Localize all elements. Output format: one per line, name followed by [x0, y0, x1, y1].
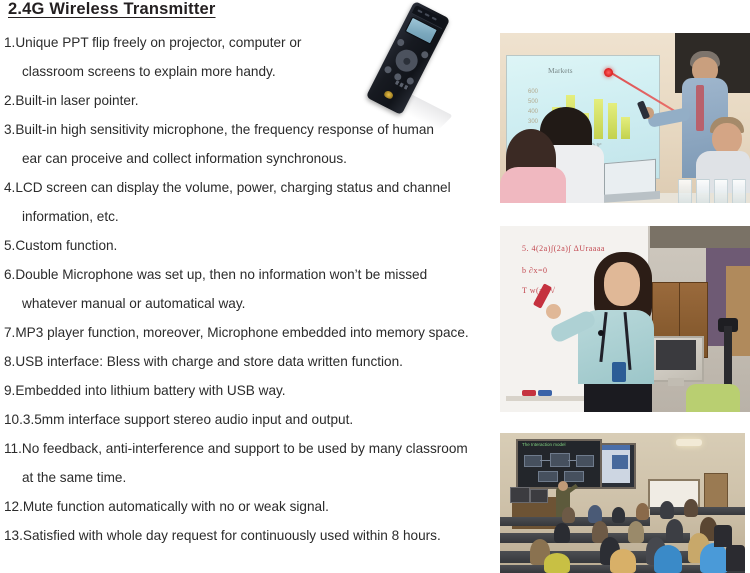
red-marker: [522, 390, 536, 396]
slide-diagram-box: [524, 455, 542, 467]
student: [636, 503, 649, 520]
blue-marker: [538, 390, 552, 396]
list-item-line: 5.Custom function.: [0, 231, 500, 260]
student: [628, 521, 644, 543]
student: [544, 553, 570, 573]
slide-connector: [540, 460, 550, 461]
student: [660, 501, 674, 519]
list-item: 6.Double Microphone was set up, then no …: [0, 260, 500, 318]
list-item: 13.Satisfied with whole day request for …: [0, 521, 500, 550]
list-item-line: 10.3.5mm interface support stereo audio …: [0, 405, 500, 434]
photo-business-presentation: Markets 600 500 400 300 laserstarker: [500, 33, 750, 203]
photo-classroom-teacher: 5. 4(2a)∫(2a)∫ ΔUraaaa b ∂x=0 T w(aa)√: [500, 226, 750, 412]
podium-monitor: [530, 489, 548, 503]
student-desk-row: [500, 517, 650, 526]
screen-window-titlebar: [602, 445, 630, 450]
list-item-line: 7.MP3 player function, moreover, Microph…: [0, 318, 500, 347]
chart-bar: [594, 99, 603, 139]
slide-diagram-box: [538, 471, 558, 482]
ceiling: [648, 226, 750, 248]
green-chair: [686, 384, 740, 412]
list-item: 4.LCD screen can display the volume, pow…: [0, 173, 500, 231]
student: [562, 507, 575, 523]
list-item-line: 11.No feedback, anti-interference and su…: [0, 434, 500, 463]
student: [612, 507, 625, 523]
slide-title: The Interaction model: [522, 442, 580, 449]
student: [700, 543, 728, 573]
laser-emitter-icon: [383, 90, 394, 100]
screen-window-panel: [612, 455, 628, 469]
audience-body: [500, 167, 566, 203]
clip-microphone-icon: [598, 330, 604, 336]
device-button: [406, 76, 415, 85]
teacher-face: [604, 262, 640, 306]
projected-chart-title: Markets: [548, 66, 608, 75]
list-item-line: 9.Embedded into lithium battery with USB…: [0, 376, 500, 405]
list-item-line: information, etc.: [0, 202, 500, 231]
page-title: 2.4G Wireless Transmitter: [8, 0, 216, 19]
slide-diagram-box: [576, 455, 594, 467]
water-glass: [714, 179, 728, 203]
list-item-line: 6.Double Microphone was set up, then no …: [0, 260, 500, 289]
list-item: 7.MP3 player function, moreover, Microph…: [0, 318, 500, 347]
student: [554, 523, 570, 543]
podium-monitor: [510, 487, 530, 503]
chart-axis-label: 400: [528, 109, 544, 116]
device-button: [396, 38, 405, 47]
tripod-stand: [724, 326, 732, 386]
list-item-line: ear can proceive and collect information…: [0, 144, 500, 173]
list-item-line: 13.Satisfied with whole day request for …: [0, 521, 500, 550]
list-item-line: whatever manual or automatical way.: [0, 289, 500, 318]
product-image-wireless-presenter: [358, 2, 488, 122]
list-item: 5.Custom function.: [0, 231, 500, 260]
list-item-line: 8.USB interface: Bless with charge and s…: [0, 347, 500, 376]
lecture-chair: [714, 525, 732, 547]
list-item-line: at the same time.: [0, 463, 500, 492]
list-item: 11.No feedback, anti-interference and su…: [0, 434, 500, 492]
student: [684, 499, 698, 517]
laser-dot: [604, 68, 613, 77]
student: [666, 519, 683, 542]
list-item: 9.Embedded into lithium battery with USB…: [0, 376, 500, 405]
chart-axis-label: 600: [528, 89, 544, 96]
device-body: [366, 1, 451, 115]
water-glass: [678, 179, 692, 203]
presenter-tie: [696, 85, 704, 131]
slide-connector: [568, 460, 576, 461]
photo-lecture-hall: The Interaction model: [500, 433, 745, 573]
slide-diagram-box: [550, 453, 570, 467]
slide-diagram-box: [564, 471, 584, 482]
chart-axis-label: 500: [528, 99, 544, 106]
device-button: [420, 50, 429, 59]
device-button: [383, 65, 392, 74]
list-item: 8.USB interface: Bless with charge and s…: [0, 347, 500, 376]
list-item: 10.3.5mm interface support stereo audio …: [0, 405, 500, 434]
student: [610, 549, 636, 573]
chart-bar: [621, 117, 630, 139]
transmitter-badge: [612, 362, 626, 382]
water-glass: [696, 179, 710, 203]
student: [654, 545, 682, 573]
teacher-hand: [546, 304, 561, 319]
monitor-stand: [668, 378, 684, 386]
monitor-screen: [656, 340, 696, 370]
chart-bar: [608, 103, 617, 139]
list-item-line: 4.LCD screen can display the volume, pow…: [0, 173, 500, 202]
list-item: 12.Mute function automatically with no o…: [0, 492, 500, 521]
water-glass: [732, 179, 746, 203]
lecture-chair: [726, 545, 745, 571]
list-item-line: 12.Mute function automatically with no o…: [0, 492, 500, 521]
ceiling-light: [676, 439, 702, 446]
